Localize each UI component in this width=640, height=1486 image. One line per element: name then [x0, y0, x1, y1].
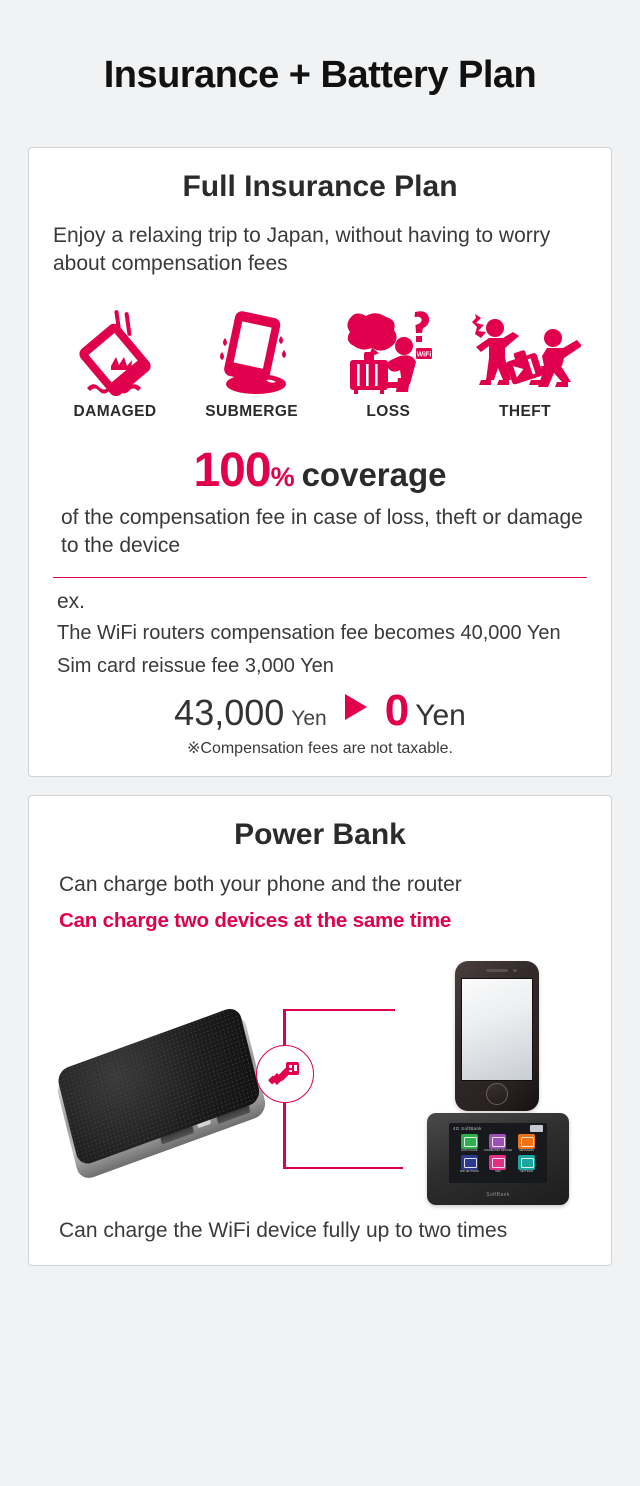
data-usage-app: [461, 1134, 478, 1149]
damaged-phone-icon: [79, 304, 151, 396]
router-app: MESSAGES: [516, 1134, 537, 1153]
example-label: ex.: [57, 590, 587, 614]
phone-earpiece: [486, 969, 508, 972]
old-price-value: 43,000: [174, 692, 284, 734]
router-app: SMS: [484, 1155, 513, 1174]
router-status-bar: 4G SoftBank: [449, 1123, 547, 1133]
price-comparison-row: 43,000 Yen 0 Yen: [53, 686, 587, 736]
example-line-sim-fee: Sim card reissue fee 3,000 Yen: [57, 653, 587, 679]
insurance-lead-text: Enjoy a relaxing trip to Japan, without …: [53, 222, 587, 278]
icon-label-damaged: DAMAGED: [74, 403, 157, 421]
router-app-caption: SMS: [484, 1170, 513, 1173]
cable-to-router-horizontal: [283, 1167, 403, 1170]
icon-item-damaged: DAMAGED: [55, 304, 175, 421]
page-title: Insurance + Battery Plan: [28, 25, 612, 121]
icon-label-loss: LOSS: [366, 403, 410, 421]
router-app: CONNECTED DEVICES: [484, 1134, 513, 1153]
wifi-router-device: 4G SoftBank DATA USAGE CONNECTED DEVICES: [427, 1113, 569, 1205]
icon-label-submerge: SUBMERGE: [205, 403, 298, 421]
power-bank-device: [52, 1002, 269, 1187]
power-bank-footer-text: Can charge the WiFi device fully up to t…: [53, 1217, 587, 1245]
coverage-word: coverage: [302, 456, 447, 493]
cable-to-phone-vertical: [283, 1009, 286, 1049]
smartphone-device: [455, 961, 539, 1111]
submerged-phone-icon: [212, 304, 292, 396]
connected-devices-app: [489, 1134, 506, 1149]
power-bank-card: Power Bank Can charge both your phone an…: [28, 795, 612, 1265]
wifi-settings-app: [461, 1155, 478, 1170]
coverage-description: of the compensation fee in case of loss,…: [53, 504, 587, 559]
router-app: SETTINGS: [516, 1155, 537, 1174]
icon-item-loss: WiFi LOSS: [328, 304, 448, 421]
phone-screen: [461, 978, 533, 1081]
icon-label-theft: THEFT: [499, 403, 551, 421]
phone-front-camera: [513, 969, 517, 973]
coverage-number: 100: [193, 444, 270, 497]
coverage-percent-sign: %: [271, 462, 295, 492]
messages-app: [518, 1134, 535, 1149]
power-bank-diagram: 4G SoftBank DATA USAGE CONNECTED DEVICES: [53, 947, 587, 1209]
example-line-router-fee: The WiFi routers compensation fee become…: [57, 620, 587, 646]
icon-item-submerge: SUBMERGE: [192, 304, 312, 421]
router-app: WiFi SETTINGS: [459, 1155, 480, 1174]
section-divider: [53, 577, 587, 578]
router-app-caption: CONNECTED DEVICES: [484, 1149, 513, 1152]
old-price-unit: Yen: [291, 707, 326, 731]
new-price-unit: Yen: [415, 699, 466, 733]
icon-item-theft: THEFT: [465, 304, 585, 421]
insurance-card: Full Insurance Plan Enjoy a relaxing tri…: [28, 147, 612, 778]
cable-to-phone-horizontal: [283, 1009, 395, 1012]
svg-text:WiFi: WiFi: [417, 352, 432, 359]
router-signal-label: 4G SoftBank: [453, 1126, 482, 1131]
play-triangle-icon: [345, 694, 367, 720]
router-app-caption: DATA USAGE: [459, 1149, 480, 1152]
usb-plug-icon: [256, 1045, 314, 1103]
coverage-headline: 100%coverage: [53, 443, 587, 498]
settings-app: [518, 1155, 535, 1170]
router-app-caption: WiFi SETTINGS: [459, 1170, 480, 1173]
cable-to-router-vertical: [283, 1097, 286, 1169]
router-app-grid: DATA USAGE CONNECTED DEVICES MESSAGES: [449, 1133, 547, 1173]
router-battery-icon: [530, 1125, 543, 1132]
router-app-caption: MESSAGES: [516, 1149, 537, 1152]
sms-app: [489, 1155, 506, 1170]
power-bank-line-1: Can charge both your phone and the route…: [53, 871, 587, 899]
phone-home-button: [486, 1083, 508, 1105]
new-price-value: 0: [385, 686, 409, 736]
theft-thief-icon: [469, 304, 581, 396]
router-screen: 4G SoftBank DATA USAGE CONNECTED DEVICES: [449, 1123, 547, 1183]
router-app: DATA USAGE: [459, 1134, 480, 1153]
power-bank-highlight: Can charge two devices at the same time: [53, 909, 587, 933]
tax-note: ※Compensation fees are not taxable.: [53, 738, 587, 758]
damage-type-icon-row: DAMAGED: [53, 304, 587, 421]
router-app-caption: SETTINGS: [516, 1170, 537, 1173]
router-brand-label: SoftBank: [427, 1192, 569, 1198]
insurance-card-title: Full Insurance Plan: [53, 170, 587, 205]
loss-person-icon: WiFi: [342, 304, 434, 396]
poster-root: Insurance + Battery Plan Full Insurance …: [0, 25, 640, 1486]
power-bank-card-title: Power Bank: [53, 818, 587, 853]
